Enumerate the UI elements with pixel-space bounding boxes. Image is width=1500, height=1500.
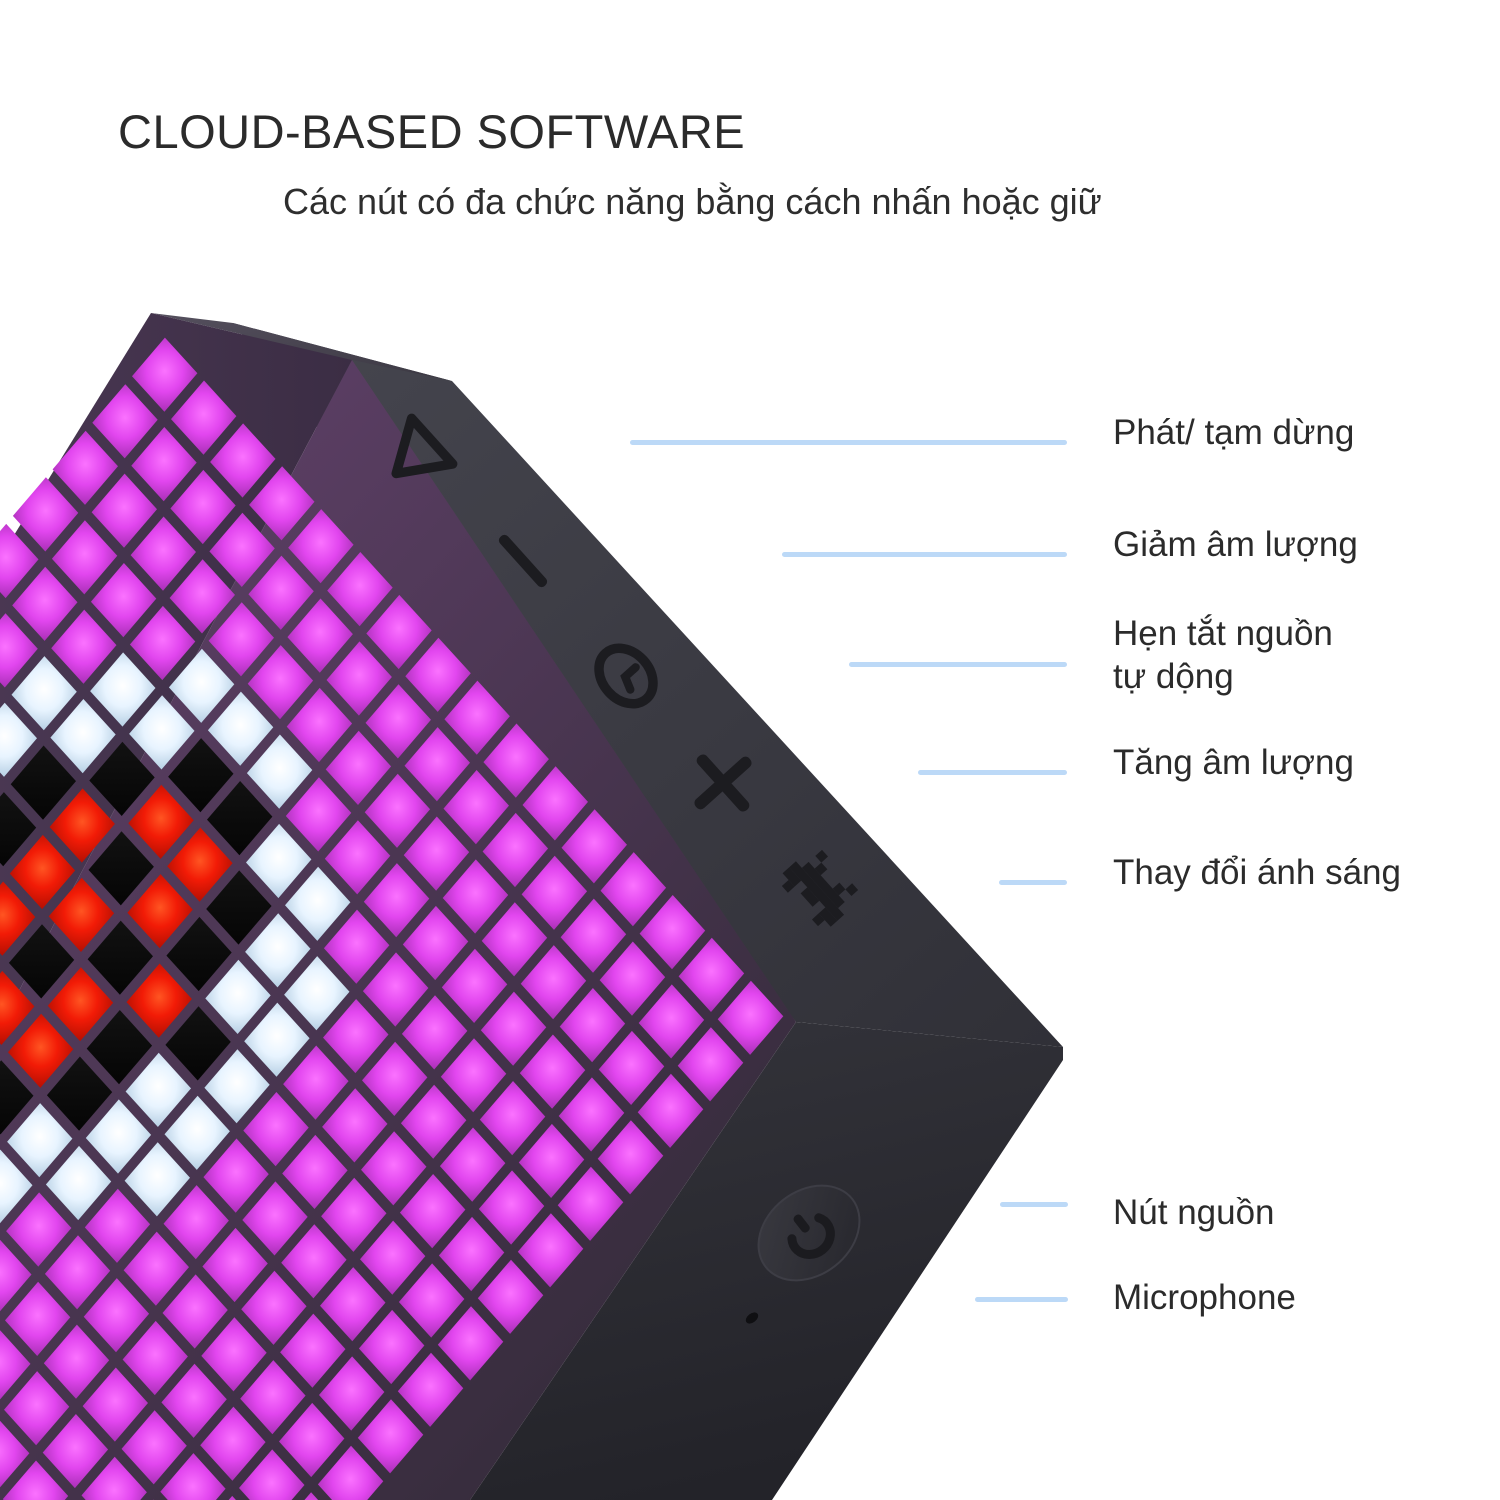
leader-line-volume-down [782,552,1067,557]
callout-label-microphone: Microphone [1113,1277,1296,1320]
speaker-illustration [0,0,1120,1500]
leader-line-play-pause [630,440,1067,445]
callout-label-light-mode: Thay đổi ánh sáng [1113,852,1401,895]
leader-line-sleep-timer [849,662,1067,667]
callout-label-power: Nút nguồn [1113,1192,1275,1235]
infographic-canvas: CLOUD-BASED SOFTWARE Các nút có đa chức … [0,0,1500,1500]
callout-label-play-pause: Phát/ tạm dừng [1113,412,1354,455]
leader-line-microphone [975,1297,1068,1302]
callout-label-volume-up: Tăng âm lượng [1113,742,1354,785]
leader-line-volume-up [918,770,1067,775]
callout-label-sleep-timer: Hẹn tắt nguồn tự dộng [1113,613,1333,698]
leader-line-light-mode [999,880,1067,885]
leader-line-power [1000,1202,1068,1207]
product-image-bluetooth-speaker [0,0,1120,1500]
callout-label-volume-down: Giảm âm lượng [1113,524,1358,567]
